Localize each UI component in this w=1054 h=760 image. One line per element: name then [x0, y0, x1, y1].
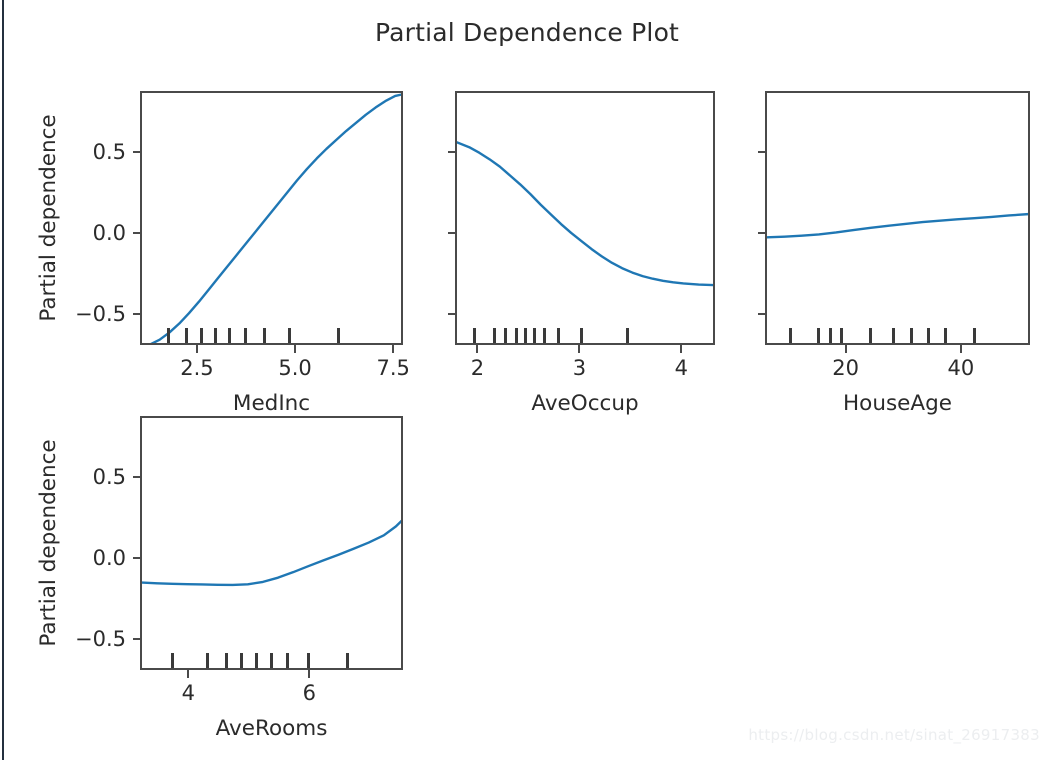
decile-mark — [288, 328, 291, 343]
decile-mark — [580, 328, 583, 343]
xtick-label: 6 — [303, 681, 316, 705]
xtick-label: 4 — [675, 356, 688, 380]
decile-mark — [493, 328, 496, 343]
left-edge-rule — [2, 0, 4, 760]
xtick-mark — [960, 345, 962, 353]
ytick-mark — [448, 232, 455, 234]
xtick-mark — [392, 345, 394, 353]
decile-mark — [543, 328, 546, 343]
xtick-mark — [196, 345, 198, 353]
xtick-mark — [845, 345, 847, 353]
decile-mark — [829, 328, 832, 343]
subplot-averooms: −0.50.00.5Partial dependence46AveRooms — [140, 416, 403, 670]
decile-mark — [840, 328, 843, 343]
ytick-mark — [133, 313, 140, 315]
subplot-medinc: −0.50.00.5Partial dependence2.55.07.5Med… — [140, 91, 403, 345]
decile-mark — [557, 328, 560, 343]
plot-area-houseage — [765, 91, 1030, 345]
xtick-mark — [308, 670, 310, 678]
decile-mark — [973, 328, 976, 343]
decile-mark — [473, 328, 476, 343]
xtick-label: 5.0 — [278, 356, 311, 380]
decile-mark — [337, 328, 340, 343]
decile-mark — [270, 653, 273, 668]
y-axis-label: Partial dependence — [36, 114, 61, 321]
decile-mark — [286, 653, 289, 668]
decile-mark — [244, 328, 247, 343]
decile-mark — [817, 328, 820, 343]
decile-mark — [200, 328, 203, 343]
decile-mark — [504, 328, 507, 343]
xtick-label: 3 — [573, 356, 586, 380]
xtick-label: 7.5 — [376, 356, 409, 380]
xtick-mark — [187, 670, 189, 678]
xtick-label: 40 — [947, 356, 974, 380]
pdp-curve-medinc — [142, 93, 403, 345]
decile-mark — [910, 328, 913, 343]
pdp-curve-averooms — [142, 418, 403, 670]
x-axis-label-medinc: MedInc — [233, 391, 310, 416]
ytick-mark — [758, 151, 765, 153]
decile-mark — [214, 328, 217, 343]
decile-mark — [533, 328, 536, 343]
subplot-aveoccup: 234AveOccup — [455, 91, 715, 345]
page-title: Partial Dependence Plot — [0, 18, 1054, 47]
decile-mark — [307, 653, 310, 668]
decile-mark — [240, 653, 243, 668]
decile-mark — [515, 328, 518, 343]
x-axis-label-averooms: AveRooms — [216, 716, 328, 741]
xtick-label: 4 — [182, 681, 195, 705]
xtick-mark — [680, 345, 682, 353]
xtick-mark — [476, 345, 478, 353]
xtick-mark — [578, 345, 580, 353]
decile-mark — [789, 328, 792, 343]
x-axis-label-houseage: HouseAge — [843, 391, 952, 416]
xtick-label: 20 — [832, 356, 859, 380]
decile-mark — [255, 653, 258, 668]
decile-mark — [171, 653, 174, 668]
x-axis-label-aveoccup: AveOccup — [531, 391, 638, 416]
watermark-url: https://blog.csdn.net/sinat_26917383 — [748, 726, 1040, 744]
decile-mark — [944, 328, 947, 343]
plot-area-averooms — [140, 416, 403, 670]
pdp-curve-aveoccup — [457, 93, 715, 345]
xtick-label: 2.5 — [180, 356, 213, 380]
ytick-mark — [448, 313, 455, 315]
ytick-mark — [133, 638, 140, 640]
decile-mark — [626, 328, 629, 343]
plot-area-aveoccup — [455, 91, 715, 345]
decile-mark — [206, 653, 209, 668]
ytick-mark — [133, 557, 140, 559]
ytick-mark — [448, 151, 455, 153]
decile-mark — [892, 328, 895, 343]
subplot-houseage: 2040HouseAge — [765, 91, 1030, 345]
pdp-curve-houseage — [767, 93, 1030, 345]
ytick-mark — [758, 313, 765, 315]
plot-area-medinc — [140, 91, 403, 345]
y-axis-label: Partial dependence — [36, 439, 61, 646]
ytick-mark — [133, 476, 140, 478]
decile-mark — [185, 328, 188, 343]
decile-mark — [225, 653, 228, 668]
decile-mark — [167, 328, 170, 343]
ytick-mark — [758, 232, 765, 234]
xtick-label: 2 — [471, 356, 484, 380]
decile-mark — [346, 653, 349, 668]
ytick-mark — [133, 151, 140, 153]
ytick-mark — [133, 232, 140, 234]
xtick-mark — [294, 345, 296, 353]
decile-mark — [263, 328, 266, 343]
decile-mark — [869, 328, 872, 343]
decile-mark — [228, 328, 231, 343]
decile-mark — [927, 328, 930, 343]
decile-mark — [524, 328, 527, 343]
